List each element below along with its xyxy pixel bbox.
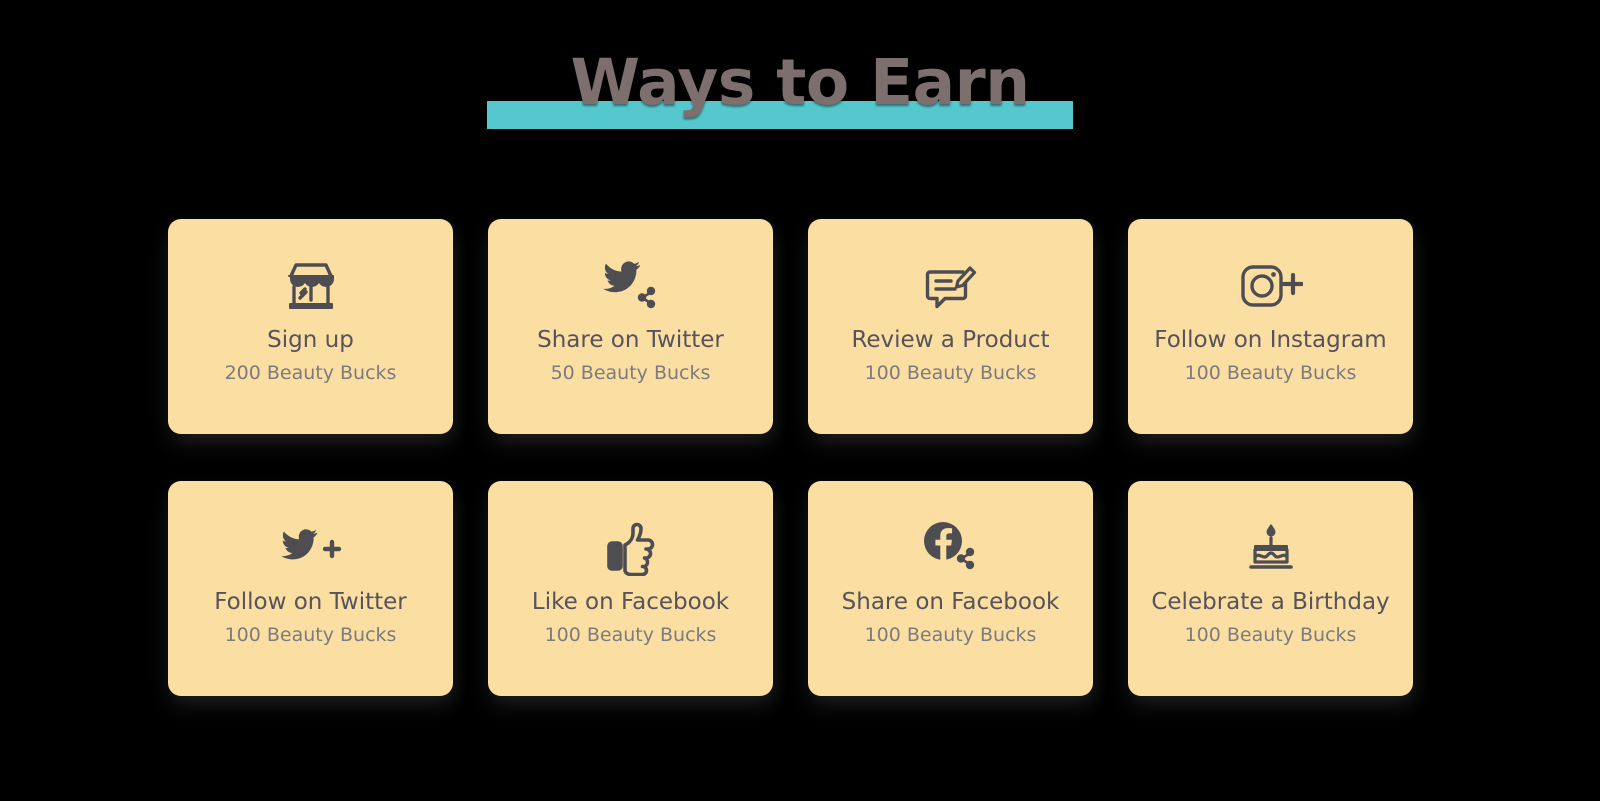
review-pencil-icon xyxy=(922,255,980,317)
earn-card-share-on-facebook[interactable]: Share on Facebook 100 Beauty Bucks xyxy=(808,481,1093,696)
twitter-share-icon xyxy=(600,255,662,317)
birthday-cake-icon xyxy=(1242,517,1300,579)
earn-card-follow-on-instagram[interactable]: Follow on Instagram 100 Beauty Bucks xyxy=(1128,219,1413,434)
instagram-follow-icon xyxy=(1239,255,1303,317)
page-header: Ways to Earn xyxy=(0,40,1600,150)
earn-card-like-on-facebook[interactable]: Like on Facebook 100 Beauty Bucks xyxy=(488,481,773,696)
card-title: Share on Twitter xyxy=(537,325,724,355)
card-title: Share on Facebook xyxy=(842,587,1060,617)
card-title: Follow on Twitter xyxy=(214,587,407,617)
card-title: Review a Product xyxy=(851,325,1049,355)
ways-to-earn-grid: Sign up 200 Beauty Bucks Share on Twitte… xyxy=(168,219,1413,696)
card-title: Sign up xyxy=(267,325,354,355)
card-points: 100 Beauty Bucks xyxy=(865,623,1037,648)
card-title: Celebrate a Birthday xyxy=(1151,587,1389,617)
card-points: 50 Beauty Bucks xyxy=(551,361,711,386)
earn-card-share-on-twitter[interactable]: Share on Twitter 50 Beauty Bucks xyxy=(488,219,773,434)
card-points: 100 Beauty Bucks xyxy=(1185,361,1357,386)
card-points: 100 Beauty Bucks xyxy=(545,623,717,648)
facebook-share-icon xyxy=(920,517,982,579)
card-points: 200 Beauty Bucks xyxy=(225,361,397,386)
card-title: Follow on Instagram xyxy=(1154,325,1386,355)
card-title: Like on Facebook xyxy=(532,587,729,617)
earn-card-celebrate-a-birthday[interactable]: Celebrate a Birthday 100 Beauty Bucks xyxy=(1128,481,1413,696)
page-title: Ways to Earn xyxy=(0,40,1600,126)
storefront-icon xyxy=(283,255,339,317)
thumbs-up-icon xyxy=(604,517,658,579)
earn-card-sign-up[interactable]: Sign up 200 Beauty Bucks xyxy=(168,219,453,434)
earn-card-review-a-product[interactable]: Review a Product 100 Beauty Bucks xyxy=(808,219,1093,434)
twitter-follow-icon xyxy=(280,517,342,579)
card-points: 100 Beauty Bucks xyxy=(865,361,1037,386)
card-points: 100 Beauty Bucks xyxy=(1185,623,1357,648)
earn-card-follow-on-twitter[interactable]: Follow on Twitter 100 Beauty Bucks xyxy=(168,481,453,696)
card-points: 100 Beauty Bucks xyxy=(225,623,397,648)
